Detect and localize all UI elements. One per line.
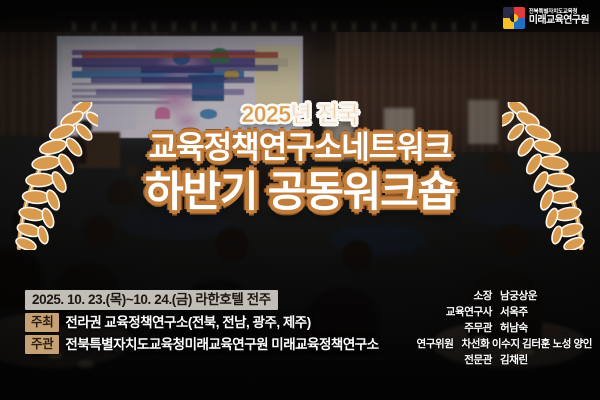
title-line-1: 2025년 전국 — [0, 101, 600, 129]
poster-image: 전북특별자치도교육청 미래교육연구원 — [0, 0, 600, 400]
credit-role: 소장 — [473, 288, 492, 303]
title-line-2: 교육정책연구소네트워크 — [0, 129, 600, 167]
credit-role: 주무관 — [464, 320, 492, 335]
organizer-value: 전북특별자치도교육청미래교육연구원 미래교육정책연구소 — [65, 336, 378, 353]
host-value: 전라권 교육정책연구소(전북, 전남, 광주, 제주) — [65, 314, 310, 331]
organization-logo: 전북특별자치도교육청 미래교육연구원 — [500, 5, 592, 31]
event-date-venue: 2025. 10. 23.(목)~10. 24.(금) 라한호텔 전주 — [25, 290, 278, 310]
credit-row: 전문관 김채린 — [417, 352, 593, 367]
credit-names: 김채린 — [500, 352, 592, 367]
credit-role: 연구위원 — [417, 336, 454, 351]
credit-names: 허남숙 — [500, 320, 592, 335]
host-badge: 주최 — [25, 313, 59, 332]
credit-role: 교육연구사 — [446, 304, 492, 319]
event-info-block: 2025. 10. 23.(목)~10. 24.(금) 라한호텔 전주 주최 전… — [25, 290, 379, 354]
organizer-badge: 주관 — [25, 335, 59, 354]
credit-names: 서옥주 — [500, 304, 592, 319]
credit-row: 교육연구사 서옥주 — [417, 304, 593, 319]
logo-org-main: 미래교육연구원 — [529, 16, 589, 26]
credit-names: 남궁상운 — [500, 288, 592, 303]
credit-row: 연구위원 차선화 이수지 김터훈 노성 양인 — [417, 336, 593, 351]
title-line-3: 하반기 공동워크숍 — [0, 167, 600, 217]
staff-credits-list: 소장 남궁상운 교육연구사 서옥주 주무관 허남숙 연구위원 차선화 이수지 김… — [417, 288, 593, 367]
credit-row: 주무관 허남숙 — [417, 320, 593, 335]
poster-title: 2025년 전국 교육정책연구소네트워크 하반기 공동워크숍 — [0, 101, 600, 217]
organizer-row: 주관 전북특별자치도교육청미래교육연구원 미래교육정책연구소 — [25, 335, 379, 354]
credit-names: 차선화 이수지 김터훈 노성 양인 — [462, 336, 592, 351]
credit-row: 소장 남궁상운 — [417, 288, 593, 303]
logo-text-block: 전북특별자치도교육청 미래교육연구원 — [529, 10, 589, 27]
jeonbuk-education-logo-mark-icon — [503, 7, 525, 29]
host-row: 주최 전라권 교육정책연구소(전북, 전남, 광주, 제주) — [25, 313, 379, 332]
credit-role: 전문관 — [464, 352, 492, 367]
